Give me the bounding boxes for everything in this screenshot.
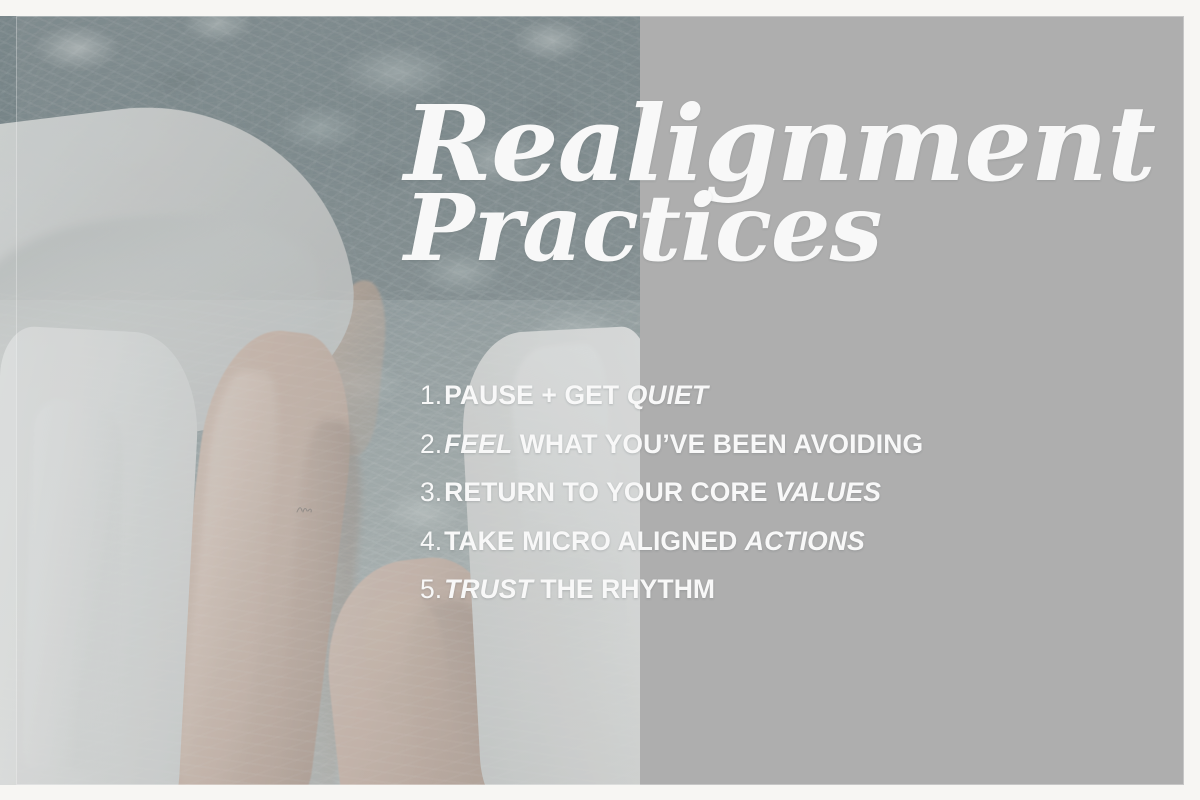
plain-words: WHAT YOU’VE BEEN AVOIDING	[512, 429, 923, 459]
list-item: 3.RETURN TO YOUR CORE VALUES	[420, 479, 1120, 506]
list-item-label: FEEL WHAT YOU’VE BEEN AVOIDING	[444, 431, 923, 458]
plain-words: PAUSE + GET	[444, 380, 627, 410]
list-item-number: 1.	[420, 382, 442, 409]
list-item-number: 2.	[420, 431, 442, 458]
list-item-label: TRUST THE RHYTHM	[444, 576, 715, 603]
outer-margin-bottom	[0, 785, 1200, 800]
list-item-number: 5.	[420, 576, 442, 603]
outer-margin-right	[1184, 0, 1200, 800]
emphasis-word: VALUES	[775, 477, 881, 507]
emphasis-word: FEEL	[444, 429, 512, 459]
emphasis-word: TRUST	[444, 574, 533, 604]
title-line-2: Practices	[404, 186, 1179, 271]
list-item: 5.TRUST THE RHYTHM	[420, 576, 1120, 603]
plain-words: THE RHYTHM	[533, 574, 715, 604]
plain-words: RETURN TO YOUR CORE	[444, 477, 775, 507]
list-item-number: 4.	[420, 528, 442, 555]
emphasis-word: ACTIONS	[745, 526, 865, 556]
list-item-label: RETURN TO YOUR CORE VALUES	[444, 479, 881, 506]
outer-margin-top	[0, 0, 1200, 16]
list-item-number: 3.	[420, 479, 442, 506]
outer-margin-corner	[0, 0, 16, 16]
poster-canvas: Realignment Practices 1.PAUSE + GET QUIE…	[0, 0, 1200, 800]
list-item: 2.FEEL WHAT YOU’VE BEEN AVOIDING	[420, 431, 1120, 458]
plain-words: TAKE MICRO ALIGNED	[444, 526, 745, 556]
emphasis-word: QUIET	[627, 380, 708, 410]
page-title: Realignment Practices	[404, 96, 1164, 270]
list-item: 4.TAKE MICRO ALIGNED ACTIONS	[420, 528, 1120, 555]
list-item-label: PAUSE + GET QUIET	[444, 382, 708, 409]
practices-list: 1.PAUSE + GET QUIET2.FEEL WHAT YOU’VE BE…	[420, 382, 1120, 625]
list-item: 1.PAUSE + GET QUIET	[420, 382, 1120, 409]
list-item-label: TAKE MICRO ALIGNED ACTIONS	[444, 528, 865, 555]
